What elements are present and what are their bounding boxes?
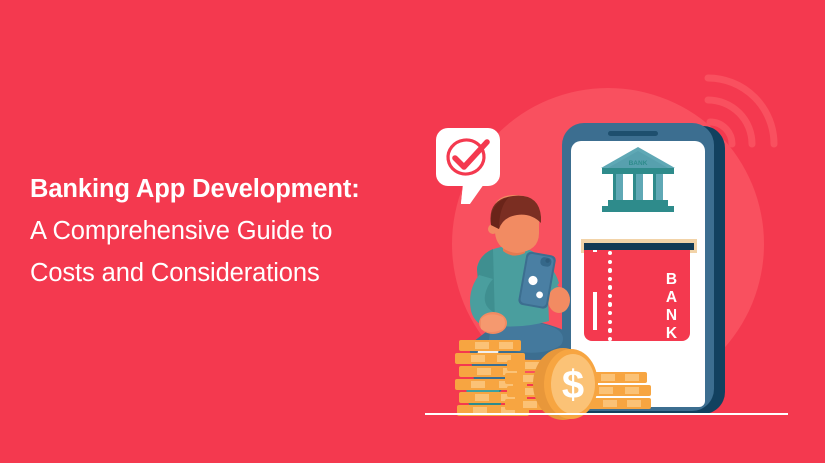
card-dot <box>608 277 612 281</box>
card-dot <box>608 285 612 289</box>
headline-line-3: Costs and Considerations <box>30 252 410 294</box>
headline-block: Banking App Development: A Comprehensive… <box>30 168 410 294</box>
card-dot <box>608 311 612 315</box>
dollar-coin: $ <box>533 348 598 420</box>
bank-building-icon: BANK <box>600 147 676 215</box>
phone-speaker-bar <box>608 131 658 136</box>
card-dot <box>608 294 612 298</box>
banner-root: BANK BANK <box>0 0 825 463</box>
headline-line-1: Banking App Development: <box>30 168 410 210</box>
card-dot <box>608 260 612 264</box>
card-dot <box>608 268 612 272</box>
headline-line-2: A Comprehensive Guide to <box>30 210 410 252</box>
card-dot <box>608 302 612 306</box>
coin-stacks: $ <box>455 330 685 418</box>
bank-icon-label: BANK <box>629 160 648 167</box>
card-dot-column <box>608 251 612 341</box>
card-dot <box>608 251 612 255</box>
ground-line <box>425 413 788 415</box>
checkmark-icon <box>444 134 492 180</box>
speech-bubble-tail <box>461 184 484 204</box>
svg-text:$: $ <box>562 363 584 407</box>
card-dot <box>608 320 612 324</box>
